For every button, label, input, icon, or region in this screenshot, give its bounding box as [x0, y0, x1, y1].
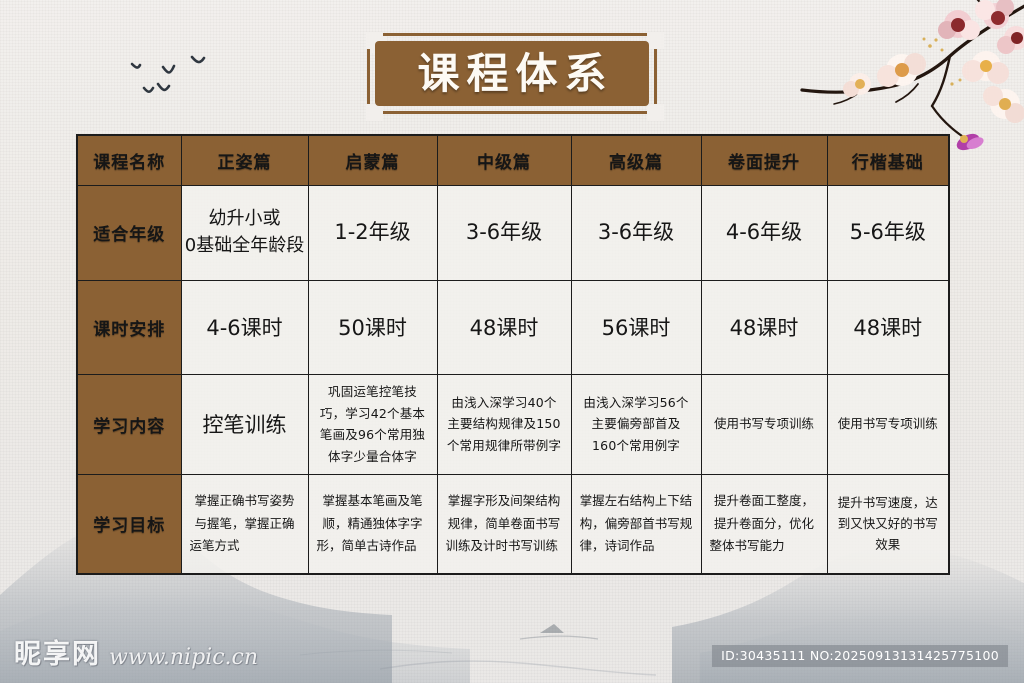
watermark-brand: 昵享网	[14, 632, 101, 671]
cell-grade-qimeng: 1-2年级	[308, 185, 437, 280]
title-plate: 课程体系	[375, 41, 649, 106]
header-cell-zhongji: 中级篇	[437, 135, 571, 185]
site-watermark: 昵享网 www.nipic.cn	[14, 632, 258, 671]
cell-grade-xingkai: 5-6年级	[827, 185, 949, 280]
cell-goal-qimeng: 掌握基本笔画及笔顺，精通独体字字形，简单古诗作品	[308, 474, 437, 574]
cell-grade-gaoji: 3-6年级	[571, 185, 701, 280]
cell-hours-gaoji: 56课时	[571, 280, 701, 374]
table-row-hours: 课时安排 4-6课时 50课时 48课时 56课时 48课时 48课时	[77, 280, 949, 374]
cell-goal-xingkai: 提升书写速度，达到又快又好的书写效果	[827, 474, 949, 574]
row-label-grade: 适合年级	[77, 185, 181, 280]
cell-content-xingkai: 使用书写专项训练	[827, 374, 949, 474]
cell-content-gaoji: 由浅入深学习56个主要偏旁部首及160个常用例字	[571, 374, 701, 474]
row-label-content: 学习内容	[77, 374, 181, 474]
row-label-goal: 学习目标	[77, 474, 181, 574]
header-cell-qimeng: 启蒙篇	[308, 135, 437, 185]
cell-hours-qimeng: 50课时	[308, 280, 437, 374]
header-cell-course-name: 课程名称	[77, 135, 181, 185]
table-row-grade: 适合年级 幼升小或0基础全年龄段 1-2年级 3-6年级 3-6年级 4-6年级…	[77, 185, 949, 280]
poster-canvas: 课程体系 课程名称 正姿篇 启蒙篇 中级篇 高级篇 卷面提升 行楷基础	[0, 0, 1024, 683]
header-cell-zhengzi: 正姿篇	[181, 135, 308, 185]
page-title: 课程体系	[410, 53, 613, 95]
cell-grade-zhongji: 3-6年级	[437, 185, 571, 280]
table-header-row: 课程名称 正姿篇 启蒙篇 中级篇 高级篇 卷面提升 行楷基础	[77, 135, 949, 185]
cell-content-qimeng: 巩固运笔控笔技巧，学习42个基本笔画及96个常用独体字少量合体字	[308, 374, 437, 474]
header-cell-xingkai: 行楷基础	[827, 135, 949, 185]
cell-hours-juanmian: 48课时	[701, 280, 827, 374]
cell-grade-juanmian: 4-6年级	[701, 185, 827, 280]
cell-hours-xingkai: 48课时	[827, 280, 949, 374]
asset-id-strip: ID:30435111 NO:20250913131425775100	[712, 645, 1008, 667]
course-system-table: 课程名称 正姿篇 启蒙篇 中级篇 高级篇 卷面提升 行楷基础 适合年级 幼升小或…	[76, 134, 950, 575]
cell-content-zhongji: 由浅入深学习40个主要结构规律及150个常用规律所带例字	[437, 374, 571, 474]
cell-goal-zhengzi: 掌握正确书写姿势与握笔，掌握正确运笔方式	[181, 474, 308, 574]
table-row-goal: 学习目标 掌握正确书写姿势与握笔，掌握正确运笔方式 掌握基本笔画及笔顺，精通独体…	[77, 474, 949, 574]
page-title-banner: 课程体系	[367, 33, 657, 114]
course-system-table-wrap: 课程名称 正姿篇 启蒙篇 中级篇 高级篇 卷面提升 行楷基础 适合年级 幼升小或…	[76, 134, 948, 575]
header-cell-gaoji: 高级篇	[571, 135, 701, 185]
flying-birds-icon	[122, 52, 237, 107]
cell-content-juanmian: 使用书写专项训练	[701, 374, 827, 474]
header-cell-juanmian: 卷面提升	[701, 135, 827, 185]
cell-hours-zhengzi: 4-6课时	[181, 280, 308, 374]
row-label-hours: 课时安排	[77, 280, 181, 374]
watermark-url: www.nipic.cn	[109, 645, 258, 671]
cell-grade-zhengzi: 幼升小或0基础全年龄段	[181, 185, 308, 280]
table-row-content: 学习内容 控笔训练 巩固运笔控笔技巧，学习42个基本笔画及96个常用独体字少量合…	[77, 374, 949, 474]
cell-content-zhengzi: 控笔训练	[181, 374, 308, 474]
cell-goal-gaoji: 掌握左右结构上下结构，偏旁部首书写规律，诗词作品	[571, 474, 701, 574]
cell-goal-zhongji: 掌握字形及间架结构规律，简单卷面书写训练及计时书写训练	[437, 474, 571, 574]
cell-hours-zhongji: 48课时	[437, 280, 571, 374]
cell-goal-juanmian: 提升卷面工整度，提升卷面分，优化整体书写能力	[701, 474, 827, 574]
